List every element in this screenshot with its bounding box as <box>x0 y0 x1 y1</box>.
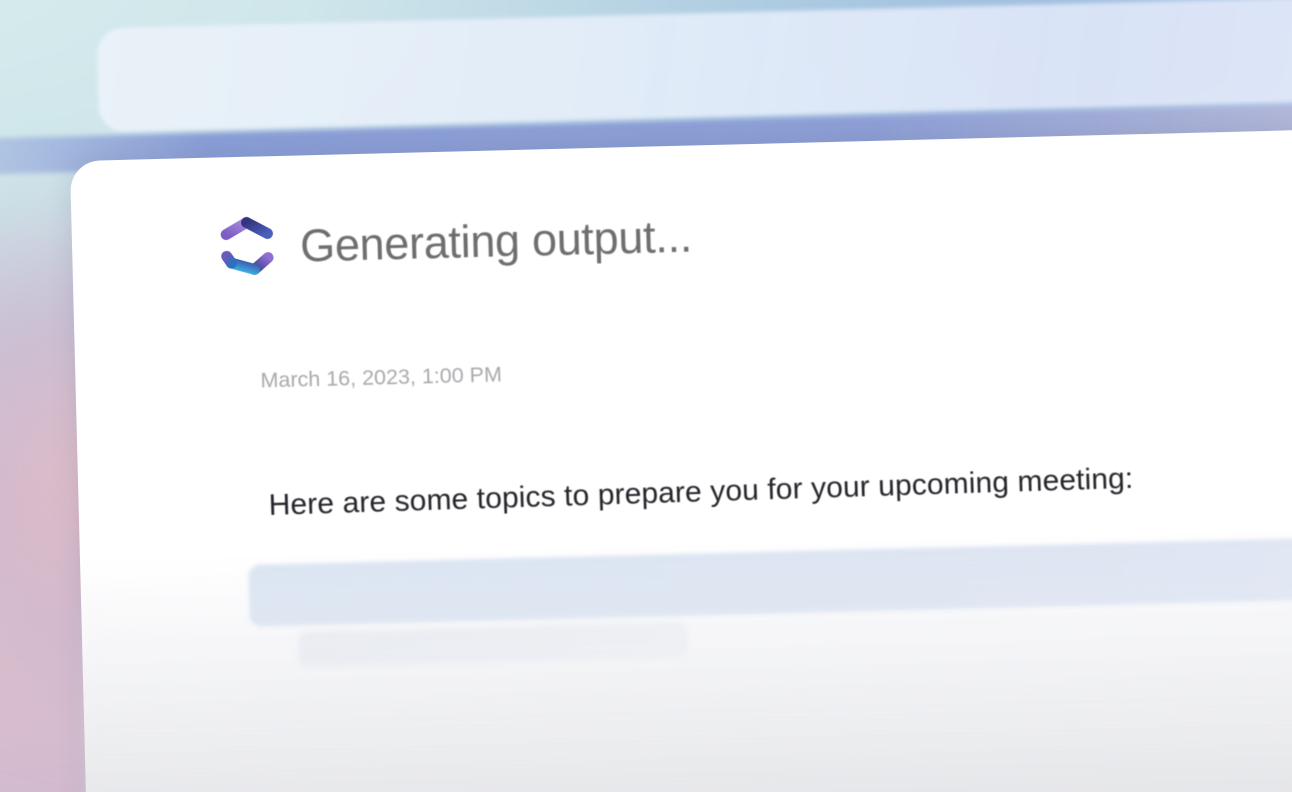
screen: Generating output... March 16, 2023, 1:0… <box>0 0 1292 792</box>
loading-bar-primary <box>248 534 1292 627</box>
tilted-scene: Generating output... March 16, 2023, 1:0… <box>0 0 1292 792</box>
loop-hexagon-icon <box>217 216 277 279</box>
timestamp-label: March 16, 2023, 1:00 PM <box>260 362 502 393</box>
output-card: Generating output... March 16, 2023, 1:0… <box>70 127 1292 792</box>
loading-bar-secondary <box>298 622 689 668</box>
page-title: Generating output... <box>299 211 692 273</box>
body-text: Here are some topics to prepare you for … <box>268 462 1134 523</box>
card-header: Generating output... <box>217 206 692 280</box>
